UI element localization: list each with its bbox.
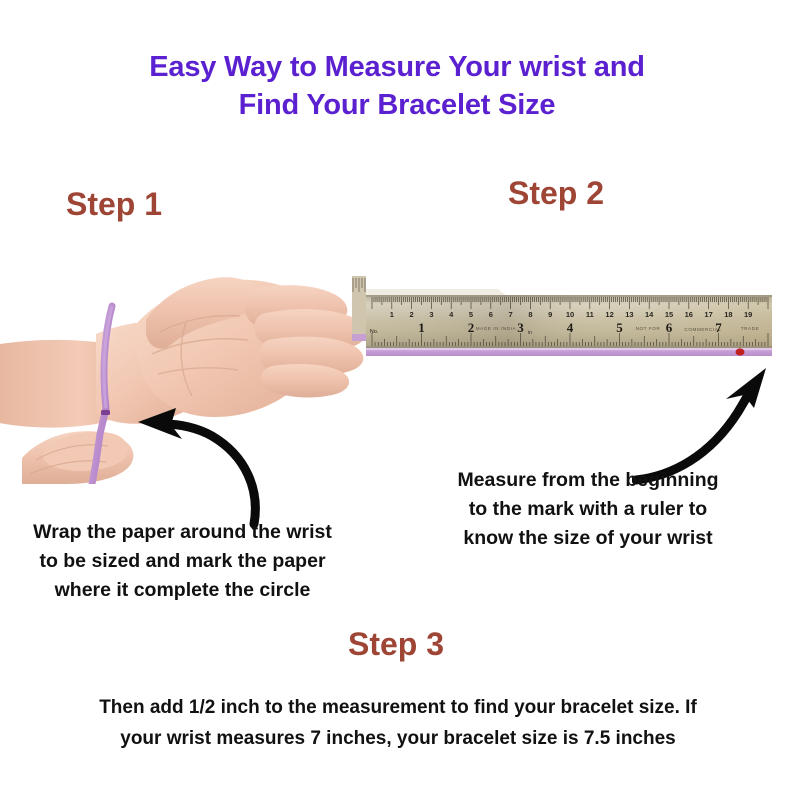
measured-paper-strip-highlight [366,348,772,350]
ruler-corner-label: No. [370,329,379,335]
step-1-caption-line-3: where it complete the circle [10,576,355,605]
ruler-inch-label: 1 [418,320,425,335]
ruler-cm-label: 5 [469,310,473,319]
infographic-canvas: Easy Way to Measure Your wrist and Find … [0,0,794,794]
ruler-inch-unit-label: in [528,330,532,336]
ruler-cm-label: 12 [605,310,613,319]
step-2-heading: Step 2 [508,175,604,212]
step-1-caption-line-2: to be sized and mark the paper [10,547,355,576]
ruler-cm-label: 13 [625,310,633,319]
ruler-cm-label: 3 [429,310,433,319]
page-title-line-2: Find Your Bracelet Size [0,86,794,124]
step-2-caption-line-3: know the size of your wrist [418,524,758,553]
ruler-not-for-text: NOT FOR [636,326,661,331]
ruler-cm-label: 8 [528,310,532,319]
step-2-caption-line-2: to the mark with a ruler to [418,495,758,524]
ruler-inch-label: 5 [616,320,623,335]
step-3-caption-line-1: Then add 1/2 inch to the measurement to … [45,692,751,723]
step-1-caption: Wrap the paper around the wrist to be si… [10,518,355,605]
step-1-caption-line-1: Wrap the paper around the wrist [10,518,355,547]
ruler-made-in-india-text: MADE IN INDIA [476,326,517,331]
step-2-caption: Measure from the beginning to the mark w… [418,466,758,553]
paper-strip-mark [101,410,110,415]
ruler-inch-label: 6 [666,320,673,335]
ruler-cm-label: 11 [586,310,594,319]
ruler-inch-label: 3 [517,320,524,335]
page-title: Easy Way to Measure Your wrist and Find … [0,48,794,124]
ruler-cm-label: 14 [645,310,654,319]
ruler-cm-label: 10 [566,310,574,319]
ruler-cm-label: 7 [509,310,513,319]
step-1-heading: Step 1 [66,186,162,223]
ruler-commercial-text: COMMERCIAL [684,327,721,332]
ruler-inch-label: 2 [468,320,475,335]
step-3-heading: Step 3 [348,626,444,663]
ruler-cm-label: 18 [724,310,732,319]
page-title-line-1: Easy Way to Measure Your wrist and [149,51,645,83]
ruler-cm-label: 1 [390,310,394,319]
ruler-cm-label: 19 [744,310,752,319]
step-3-caption: Then add 1/2 inch to the measurement to … [45,692,751,754]
ruler-cm-label: 2 [410,310,414,319]
red-measurement-mark [736,348,745,355]
ruler-cm-label: 15 [665,310,673,319]
step-2-ruler-photo: 12345678910111213141516171819 1234567 MA… [358,286,778,364]
step-2-caption-line-1: Measure from the beginning [418,466,758,495]
step-3-caption-line-2: your wrist measures 7 inches, your brace… [45,723,751,754]
ruler-cm-label: 6 [489,310,493,319]
ruler-cm-label: 9 [548,310,552,319]
ruler-cm-label: 16 [685,310,693,319]
ruler-trade-text: TRADE [741,326,760,331]
ruler-inch-label: 4 [567,320,574,335]
step-1-curved-arrow-icon [128,398,268,528]
ruler-cm-ticks [372,297,768,309]
ruler-illustration: 12345678910111213141516171819 1234567 MA… [358,286,778,364]
ruler-cm-label: 17 [704,310,712,319]
